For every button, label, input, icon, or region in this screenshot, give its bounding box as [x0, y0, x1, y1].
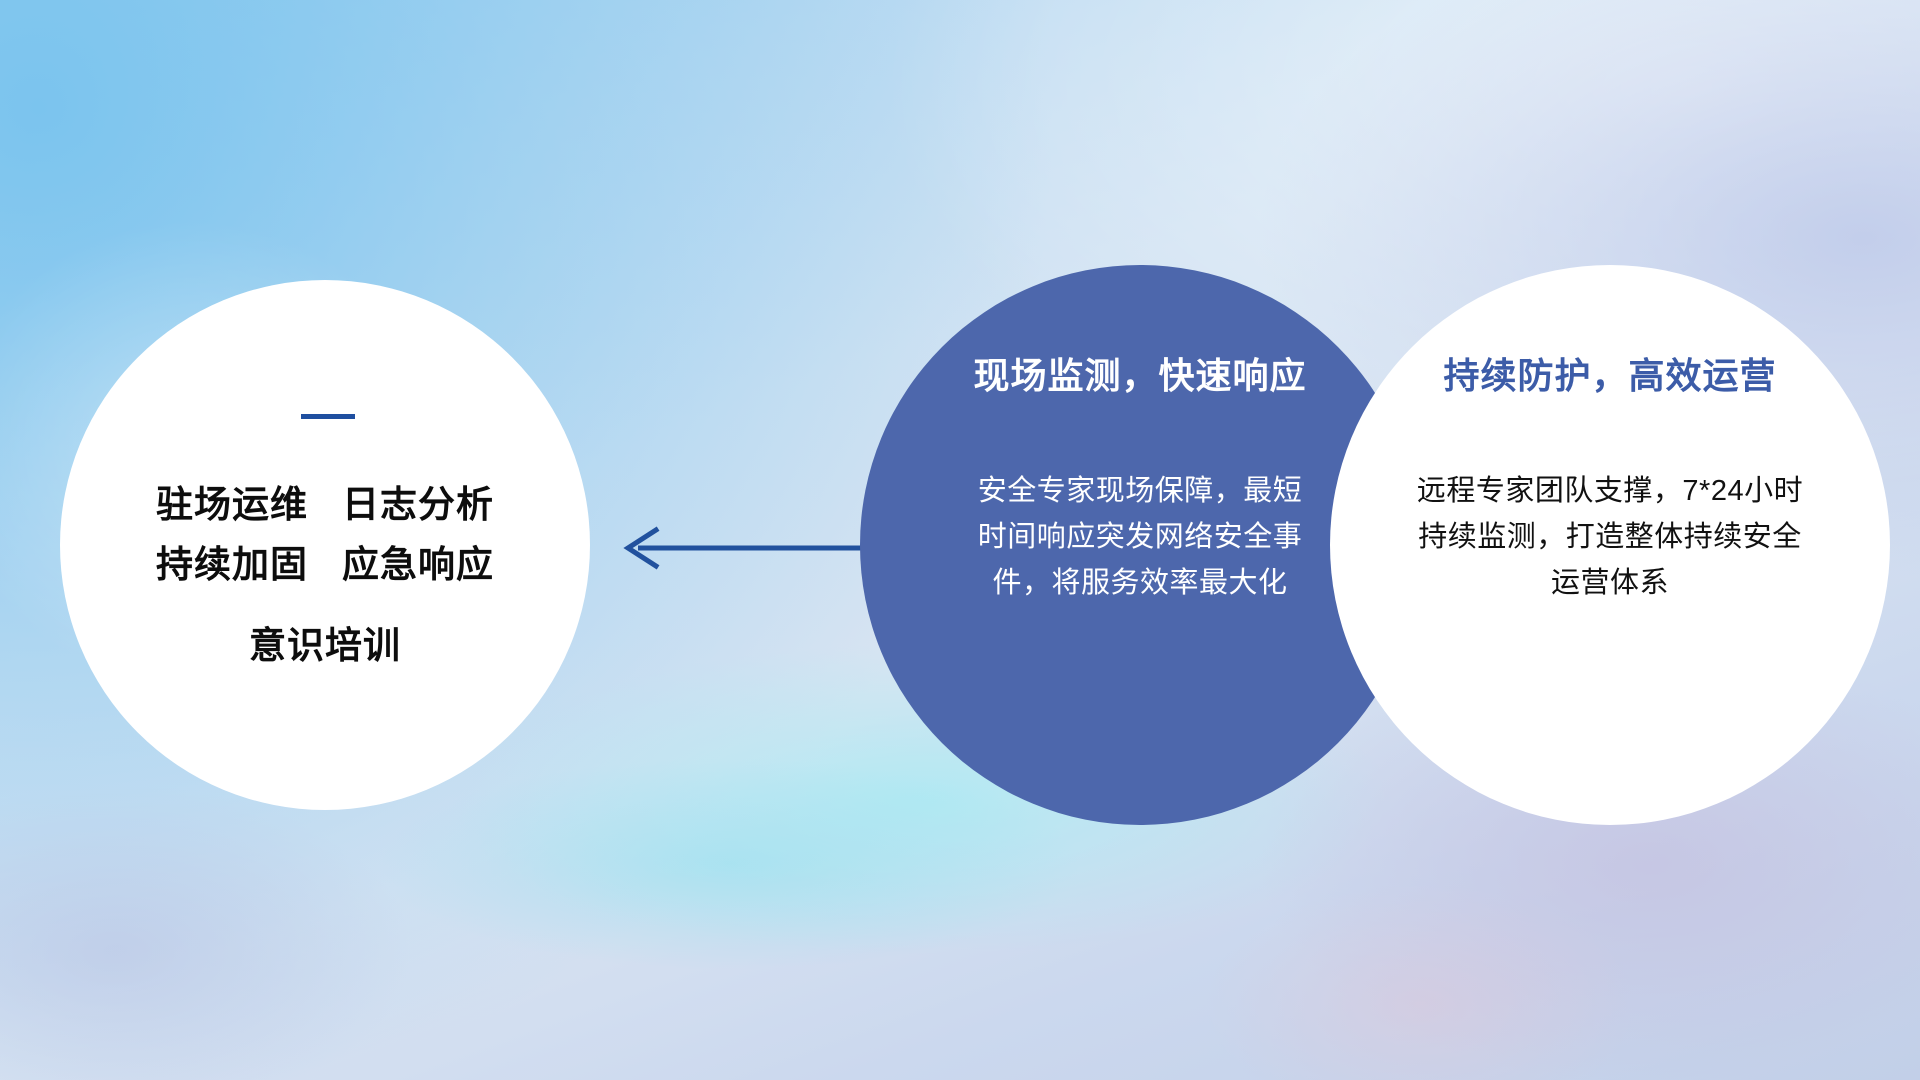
left-circle-tag: 驻场运维 — [156, 475, 308, 535]
middle-circle-body: 安全专家现场保障，最短时间响应突发网络安全事件，将服务效率最大化 — [975, 469, 1305, 606]
left-circle-tag: 意识培训 — [249, 616, 401, 676]
left-circle-tag: 应急响应 — [342, 535, 494, 595]
slide-canvas: 驻场运维 日志分析 持续加固 应急响应 意识培训 现场监测，快速响应 安全专家现… — [0, 0, 1920, 1080]
right-circle-title: 持续防护，高效运营 — [1443, 347, 1776, 399]
right-circle-content: 持续防护，高效运营 远程专家团队支撑，7*24小时持续监测，打造整体持续安全运营… — [1330, 265, 1890, 825]
left-circle-content: 驻场运维 日志分析 持续加固 应急响应 意识培训 — [60, 280, 590, 810]
left-circle-row: 持续加固 应急响应 — [156, 535, 494, 595]
middle-circle-title: 现场监测，快速响应 — [973, 347, 1306, 399]
left-circle-tag: 持续加固 — [156, 535, 308, 595]
right-circle-body: 远程专家团队支撑，7*24小时持续监测，打造整体持续安全运营体系 — [1410, 469, 1810, 606]
left-circle-divider — [301, 414, 355, 419]
left-circle-tag: 日志分析 — [342, 475, 494, 535]
left-circle-row: 驻场运维 日志分析 — [156, 475, 494, 535]
